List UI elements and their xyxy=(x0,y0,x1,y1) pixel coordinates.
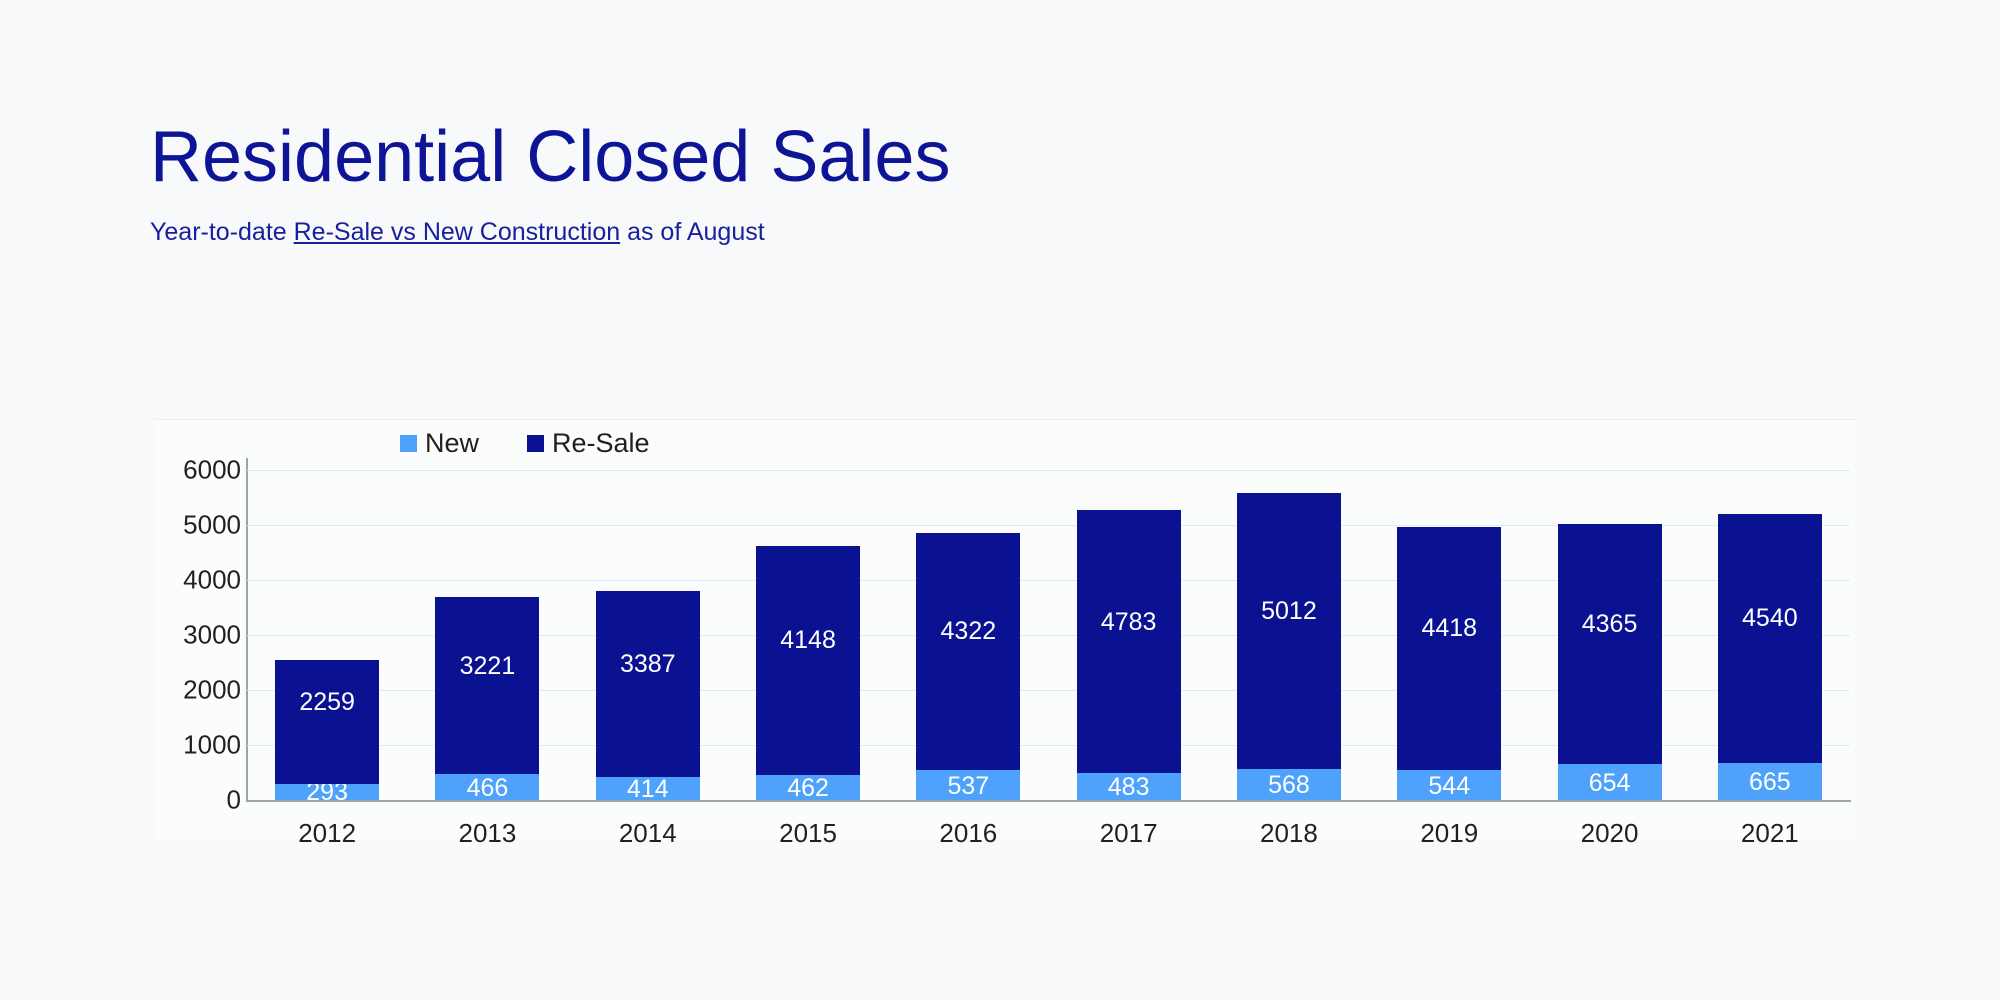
bar-value-label-resale: 2259 xyxy=(299,690,355,715)
legend-item-resale[interactable]: Re-Sale xyxy=(527,430,650,457)
y-axis-tick-label: 5000 xyxy=(155,510,241,541)
bar-group[interactable]: 5685012 xyxy=(1237,493,1341,800)
bar-value-label-resale: 5012 xyxy=(1261,599,1317,624)
x-axis-tick-label: 2014 xyxy=(568,818,728,849)
bar-group[interactable]: 4624148 xyxy=(756,546,860,800)
bar-segment-resale[interactable]: 3387 xyxy=(596,591,700,777)
legend-item-new[interactable]: New xyxy=(400,430,479,457)
bar-value-label-new: 293 xyxy=(306,780,348,805)
bar-group[interactable]: 5374322 xyxy=(916,533,1020,800)
chart-container: 0100020003000400050006000 New Re-Sale 29… xyxy=(155,420,1855,840)
bar-segment-new[interactable]: 537 xyxy=(916,770,1020,800)
chart-legend: New Re-Sale xyxy=(400,430,650,457)
bar-group[interactable]: 4143387 xyxy=(596,591,700,800)
bar-segment-resale[interactable]: 3221 xyxy=(435,597,539,774)
bar-segment-resale[interactable]: 5012 xyxy=(1237,493,1341,769)
bar-segment-resale[interactable]: 4783 xyxy=(1077,510,1181,773)
bar-segment-resale[interactable]: 4322 xyxy=(916,533,1020,771)
bar-value-label-new: 654 xyxy=(1589,771,1631,796)
chart-header: Residential Closed Sales Year-to-date Re… xyxy=(150,120,1850,247)
bar-segment-resale[interactable]: 2259 xyxy=(275,660,379,784)
bar-value-label-resale: 4365 xyxy=(1582,612,1638,637)
bar-segment-new[interactable]: 293 xyxy=(275,784,379,800)
subtitle-underlined-phrase: Re-Sale vs New Construction xyxy=(294,218,621,246)
bar-value-label-resale: 3387 xyxy=(620,652,676,677)
bar-value-label-resale: 4783 xyxy=(1101,610,1157,635)
bar-segment-new[interactable]: 665 xyxy=(1718,763,1822,800)
subtitle-suffix: as of August xyxy=(620,218,765,246)
bar-group[interactable]: 4834783 xyxy=(1077,510,1181,800)
x-axis-tick-label: 2017 xyxy=(1049,818,1209,849)
plot-area: 2932259466322141433874624148537432248347… xyxy=(247,470,1850,800)
legend-swatch-new-icon xyxy=(400,435,417,452)
y-axis-tick-label: 2000 xyxy=(155,675,241,706)
bar-segment-resale[interactable]: 4365 xyxy=(1558,524,1662,764)
bar-group[interactable]: 6654540 xyxy=(1718,514,1822,800)
x-axis-tick-label: 2013 xyxy=(407,818,567,849)
bar-value-label-new: 544 xyxy=(1428,774,1470,799)
bar-value-label-resale: 4322 xyxy=(941,619,997,644)
bar-value-label-new: 665 xyxy=(1749,770,1791,795)
bar-segment-new[interactable]: 483 xyxy=(1077,773,1181,800)
x-axis-tick-label: 2020 xyxy=(1529,818,1689,849)
bar-value-label-resale: 4148 xyxy=(780,628,836,653)
page-title: Residential Closed Sales xyxy=(150,120,1850,196)
bar-group[interactable]: 6544365 xyxy=(1558,524,1662,800)
bar-segment-resale[interactable]: 4148 xyxy=(756,546,860,774)
x-axis-tick-label: 2018 xyxy=(1209,818,1369,849)
x-axis-tick-label: 2019 xyxy=(1369,818,1529,849)
legend-label-new: New xyxy=(425,430,479,457)
legend-label-resale: Re-Sale xyxy=(552,430,650,457)
y-axis-tick-label: 1000 xyxy=(155,730,241,761)
bar-segment-new[interactable]: 654 xyxy=(1558,764,1662,800)
bar-value-label-resale: 4540 xyxy=(1742,606,1798,631)
bar-segment-new[interactable]: 544 xyxy=(1397,770,1501,800)
bar-segment-new[interactable]: 568 xyxy=(1237,769,1341,800)
bar-value-label-new: 462 xyxy=(787,776,829,801)
bar-value-label-new: 568 xyxy=(1268,773,1310,798)
bar-group[interactable]: 4663221 xyxy=(435,597,539,800)
bar-value-label-resale: 4418 xyxy=(1421,616,1477,641)
x-axis-tick-label: 2012 xyxy=(247,818,407,849)
bar-segment-new[interactable]: 414 xyxy=(596,777,700,800)
legend-swatch-resale-icon xyxy=(527,435,544,452)
bar-value-label-resale: 3221 xyxy=(460,654,516,679)
bar-value-label-new: 414 xyxy=(627,777,669,802)
y-axis-tick-labels: 0100020003000400050006000 xyxy=(155,470,241,800)
bar-group[interactable]: 5444418 xyxy=(1397,527,1501,800)
bar-value-label-new: 483 xyxy=(1108,775,1150,800)
y-axis-tick-label: 4000 xyxy=(155,565,241,596)
x-axis-tick-label: 2015 xyxy=(728,818,888,849)
x-axis-tick-label: 2021 xyxy=(1690,818,1850,849)
bar-segment-resale[interactable]: 4540 xyxy=(1718,514,1822,764)
chart-subtitle: Year-to-date Re-Sale vs New Construction… xyxy=(150,218,1850,247)
bar-series-group: 2932259466322141433874624148537432248347… xyxy=(247,470,1850,800)
bar-group[interactable]: 2932259 xyxy=(275,660,379,800)
bar-segment-new[interactable]: 462 xyxy=(756,775,860,800)
y-axis-tick-label: 0 xyxy=(155,785,241,816)
y-axis-tick-label: 3000 xyxy=(155,620,241,651)
y-axis-tick-label: 6000 xyxy=(155,455,241,486)
bar-segment-new[interactable]: 466 xyxy=(435,774,539,800)
bar-value-label-new: 466 xyxy=(467,776,509,801)
bar-value-label-new: 537 xyxy=(947,774,989,799)
subtitle-prefix: Year-to-date xyxy=(150,218,294,246)
x-axis-tick-label: 2016 xyxy=(888,818,1048,849)
bar-segment-resale[interactable]: 4418 xyxy=(1397,527,1501,770)
